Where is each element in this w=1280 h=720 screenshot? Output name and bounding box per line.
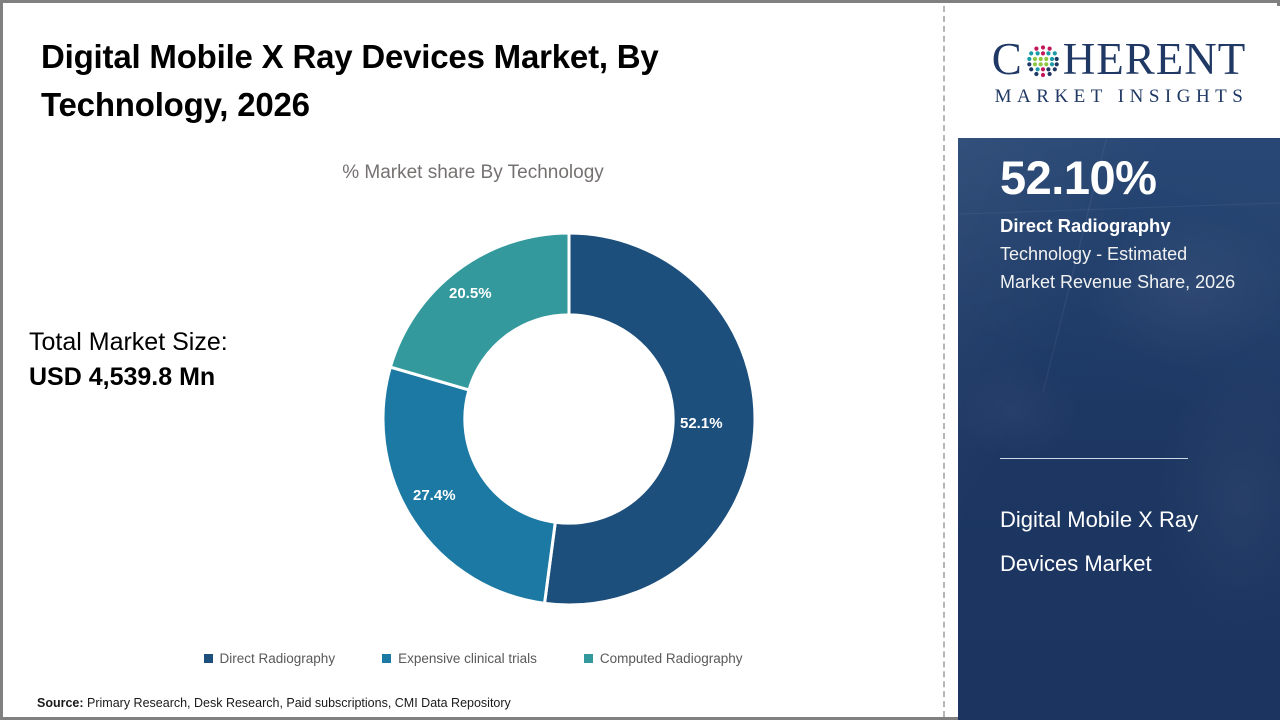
donut-slice-computed-radiography[interactable]: [390, 233, 569, 390]
brand-name-part2: HERENT: [1063, 37, 1246, 82]
source-note: Source: Primary Research, Desk Research,…: [37, 696, 511, 710]
stat-segment-name: Direct Radiography: [1000, 214, 1250, 237]
legend-label: Expensive clinical trials: [398, 651, 537, 666]
legend-item-computed-radiography[interactable]: Computed Radiography: [584, 651, 743, 666]
sidebar: C: [958, 6, 1280, 720]
slice-label-direct-radiography: 52.1%: [680, 415, 723, 432]
slice-label-expensive-clinical-trials: 27.4%: [413, 487, 456, 504]
legend-swatch-icon: [382, 654, 391, 663]
brand-name: C: [992, 37, 1247, 82]
chart-subtitle: % Market share By Technology: [3, 162, 943, 184]
donut-chart: 52.1% 27.4% 20.5%: [375, 225, 763, 613]
donut-slice-expensive-clinical-trials[interactable]: [383, 367, 555, 603]
legend-swatch-icon: [584, 654, 593, 663]
total-market-label: Total Market Size:: [29, 325, 329, 360]
legend-label: Computed Radiography: [600, 651, 743, 666]
legend-label: Direct Radiography: [220, 651, 336, 666]
main-chart-panel: Digital Mobile X Ray Devices Market, By …: [3, 3, 943, 717]
legend-swatch-icon: [204, 654, 213, 663]
brand-tagline: MARKET INSIGHTS: [990, 86, 1249, 108]
globe-dots-icon: [1024, 42, 1062, 80]
total-market-size: Total Market Size: USD 4,539.8 Mn: [29, 325, 329, 394]
source-text: Primary Research, Desk Research, Paid su…: [87, 696, 511, 710]
total-market-value: USD 4,539.8 Mn: [29, 360, 329, 395]
brand-name-part1: C: [992, 37, 1023, 82]
sidebar-market-name: Digital Mobile X Ray Devices Market: [1000, 498, 1230, 585]
legend-item-direct-radiography[interactable]: Direct Radiography: [204, 651, 336, 666]
panel-divider: [943, 6, 945, 717]
source-label: Source:: [37, 696, 84, 710]
brand-logo: C: [958, 6, 1280, 138]
legend-item-expensive-clinical-trials[interactable]: Expensive clinical trials: [382, 651, 537, 666]
stat-percentage: 52.10%: [1000, 154, 1156, 201]
sidebar-stat-panel: 52.10% Direct Radiography Technology - E…: [958, 138, 1280, 720]
chart-infographic: Digital Mobile X Ray Devices Market, By …: [0, 0, 1280, 720]
donut-slice-direct-radiography[interactable]: [545, 233, 755, 605]
chart-legend: Direct Radiography Expensive clinical tr…: [3, 651, 943, 666]
stat-description: Technology - Estimated Market Revenue Sh…: [1000, 240, 1238, 297]
slice-label-computed-radiography: 20.5%: [449, 285, 492, 302]
panel-divider-rule: [1000, 458, 1188, 459]
page-title: Digital Mobile X Ray Devices Market, By …: [41, 33, 801, 129]
